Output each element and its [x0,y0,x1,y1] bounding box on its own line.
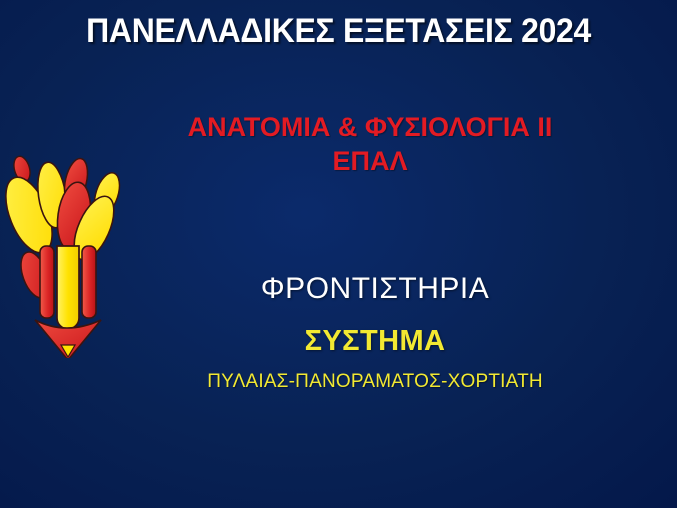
logo-pencil [35,246,101,358]
slide-title-row: ΠΑΝΕΛΛΑΔΙΚΕΣ ΕΞΕΤΑΣΕΙΣ 2024 [0,14,677,50]
school-name: ΣΥΣΤΗΜΑ [140,324,610,359]
subject-school-type: ΕΠΑΛ [120,144,620,179]
slide-title: ΠΑΝΕΛΛΑΔΙΚΕΣ ΕΞΕΤΑΣΕΙΣ 2024 [86,14,591,50]
pencil-barrel-center [57,246,79,329]
school-type-label: ΦΡΟΝΤΙΣΤΗΡΙΑ [140,270,610,308]
school-locations: ΠΥΛΑΙΑΣ-ΠΑΝΟΡΑΜΑΤΟΣ-ΧΟΡΤΙΑΤΗ [140,371,610,394]
school-block: ΦΡΟΝΤΙΣΤΗΡΙΑ ΣΥΣΤΗΜΑ ΠΥΛΑΙΑΣ-ΠΑΝΟΡΑΜΑΤΟΣ… [140,270,610,394]
pencil-barrel-left [40,246,54,318]
pencil-barrel-right [82,246,96,318]
subject-name: ΑΝΑΤΟΜΙΑ & ΦΥΣΙΟΛΟΓΙΑ ΙΙ [120,112,620,144]
pencil-tree-logo [2,148,130,358]
subject-block: ΑΝΑΤΟΜΙΑ & ΦΥΣΙΟΛΟΓΙΑ ΙΙ ΕΠΑΛ [120,112,620,179]
presentation-slide: ΠΑΝΕΛΛΑΔΙΚΕΣ ΕΞΕΤΑΣΕΙΣ 2024 ΑΝΑΤΟΜΙΑ & Φ… [0,0,677,508]
